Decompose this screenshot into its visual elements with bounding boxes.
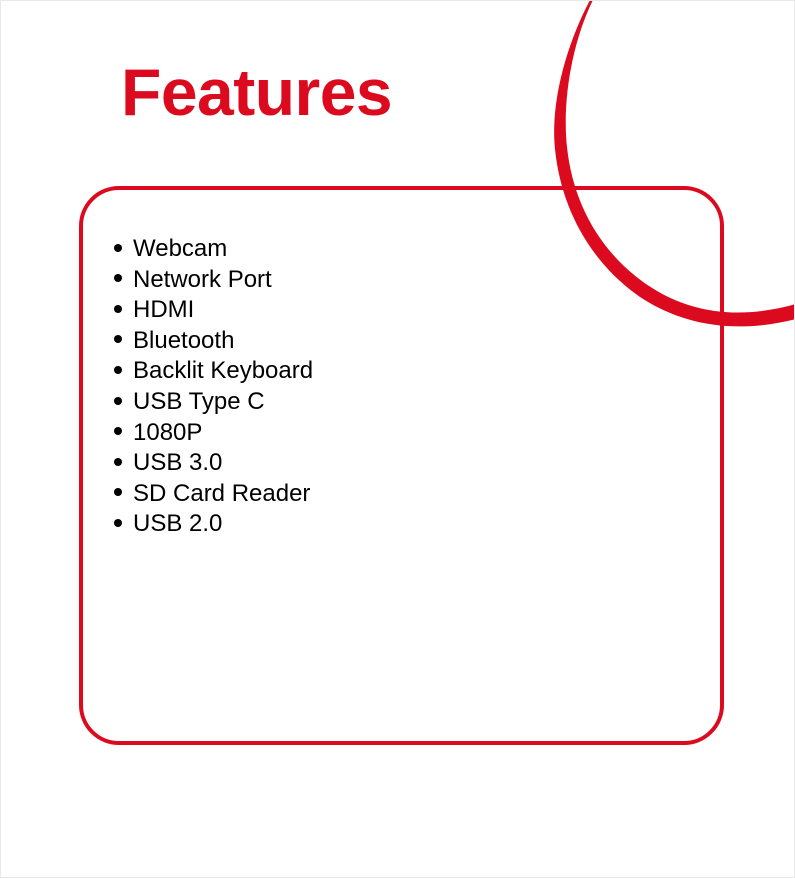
bullet-icon — [114, 244, 122, 252]
bullet-icon — [114, 519, 122, 527]
list-item: USB Type C — [114, 387, 674, 418]
list-item-label: USB 3.0 — [133, 449, 222, 476]
list-item: HDMI — [114, 295, 674, 326]
bullet-icon — [114, 458, 122, 466]
bullet-icon — [114, 335, 122, 343]
features-slide: Features Webcam Network Port HDMI Blueto… — [0, 0, 795, 878]
list-item: 1080P — [114, 418, 674, 449]
bullet-icon — [114, 274, 122, 282]
list-item: Webcam — [114, 234, 674, 265]
bullet-icon — [114, 397, 122, 405]
list-item-label: USB Type C — [133, 388, 265, 415]
list-item: Network Port — [114, 265, 674, 296]
bullet-icon — [114, 305, 122, 313]
list-item-label: HDMI — [133, 296, 194, 323]
list-item-label: Network Port — [133, 266, 272, 293]
bullet-icon — [114, 488, 122, 496]
list-item: Bluetooth — [114, 326, 674, 357]
list-item-label: SD Card Reader — [133, 480, 310, 507]
features-list: Webcam Network Port HDMI Bluetooth Backl… — [114, 234, 674, 540]
list-item: Backlit Keyboard — [114, 356, 674, 387]
list-item: USB 3.0 — [114, 448, 674, 479]
list-item: USB 2.0 — [114, 509, 674, 540]
bullet-icon — [114, 366, 122, 374]
page-title: Features — [121, 59, 392, 125]
list-item: SD Card Reader — [114, 479, 674, 510]
list-item-label: Backlit Keyboard — [133, 357, 313, 384]
list-item-label: 1080P — [133, 419, 202, 446]
list-item-label: Webcam — [133, 235, 227, 262]
list-item-label: Bluetooth — [133, 327, 234, 354]
list-item-label: USB 2.0 — [133, 510, 222, 537]
bullet-icon — [114, 427, 122, 435]
